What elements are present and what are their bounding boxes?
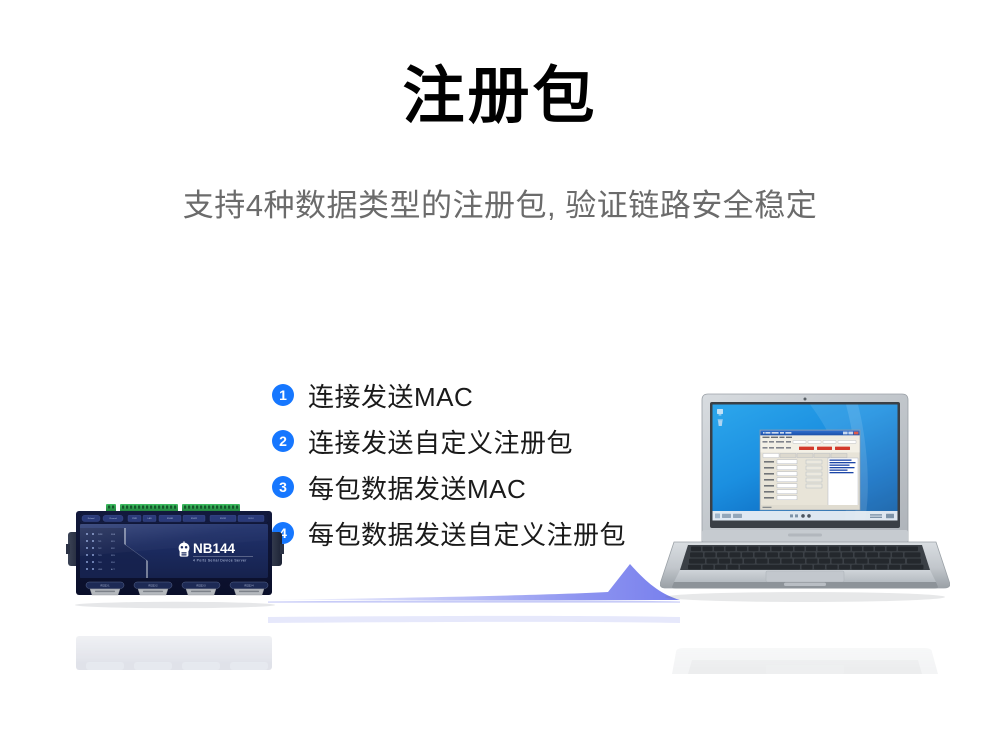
number-badge-icon: 3 xyxy=(272,476,294,498)
list-item: 1 连接发送MAC xyxy=(272,372,692,418)
list-item: 2 连接发送自定义注册包 xyxy=(272,418,692,464)
svg-text:TX4: TX4 xyxy=(98,562,101,564)
svg-text:Channel: Channel xyxy=(109,518,117,520)
svg-text:RS485: RS485 xyxy=(167,518,174,520)
list-item-label: 每包数据发送MAC xyxy=(308,469,526,506)
terminal-block-group xyxy=(106,504,240,512)
device-nb144: Reload Channel PWR LAN RS485 RS422 RS232… xyxy=(60,500,290,610)
svg-text:DI/DO: DI/DO xyxy=(248,518,254,520)
laptop-brand-plate xyxy=(788,534,822,537)
svg-text:RX4: RX4 xyxy=(111,562,115,564)
taskbar-start-button[interactable] xyxy=(715,514,720,519)
config-window-controls[interactable] xyxy=(843,432,858,435)
list-item-label: 每包数据发送自定义注册包 xyxy=(308,515,626,552)
list-item: 3 每包数据发送MAC xyxy=(272,464,692,510)
config-status-bar xyxy=(760,505,859,510)
page-subtitle: 支持4种数据类型的注册包, 验证链路安全稳定 xyxy=(0,186,1000,226)
webcam-icon xyxy=(804,398,807,401)
device-ground-shadow xyxy=(75,602,275,608)
number-badge-icon: 1 xyxy=(272,384,294,406)
device-top-button-strip: Reload Channel PWR LAN RS485 RS422 RS232… xyxy=(80,514,268,523)
svg-text:LINK: LINK xyxy=(98,569,103,571)
list-item-label: 连接发送自定义注册包 xyxy=(308,423,573,460)
trackpad[interactable] xyxy=(766,571,844,582)
svg-text:RS232-4: RS232-4 xyxy=(244,586,254,588)
device-tagline-label: 4 Ports Serial Device Server xyxy=(193,559,247,563)
svg-text:RS232: RS232 xyxy=(220,518,227,520)
laptop-latch xyxy=(784,583,826,586)
page-title: 注册包 xyxy=(0,64,1000,130)
number-badge-icon: 2 xyxy=(272,430,294,452)
config-action-buttons[interactable] xyxy=(799,447,850,450)
beam-shape xyxy=(268,564,680,600)
svg-text:RS232-3: RS232-3 xyxy=(196,586,206,588)
list-item: 4 每包数据发送自定义注册包 xyxy=(272,510,692,556)
feature-list: 1 连接发送MAC 2 连接发送自定义注册包 3 每包数据发送MAC 4 每包数… xyxy=(272,372,692,556)
laptop-ground-shadow xyxy=(665,592,945,602)
connection-beam-graphic xyxy=(268,556,680,604)
svg-text:Reload: Reload xyxy=(88,518,95,520)
beam-reflection xyxy=(268,602,680,624)
svg-text:RS232-1: RS232-1 xyxy=(100,586,110,588)
device-reflection xyxy=(60,608,290,670)
laptop-device xyxy=(660,392,950,607)
list-item-label: 连接发送MAC xyxy=(308,377,473,414)
svg-text:PWR: PWR xyxy=(132,518,137,520)
svg-text:TX3: TX3 xyxy=(98,555,101,557)
svg-text:LAN: LAN xyxy=(147,517,152,520)
laptop-reflection xyxy=(660,604,950,674)
config-utility-window[interactable] xyxy=(760,430,860,510)
svg-text:RX3: RX3 xyxy=(111,555,115,557)
config-tab-strip[interactable] xyxy=(763,454,847,458)
svg-text:RS232-2: RS232-2 xyxy=(148,586,158,588)
svg-text:RS422: RS422 xyxy=(191,518,198,520)
